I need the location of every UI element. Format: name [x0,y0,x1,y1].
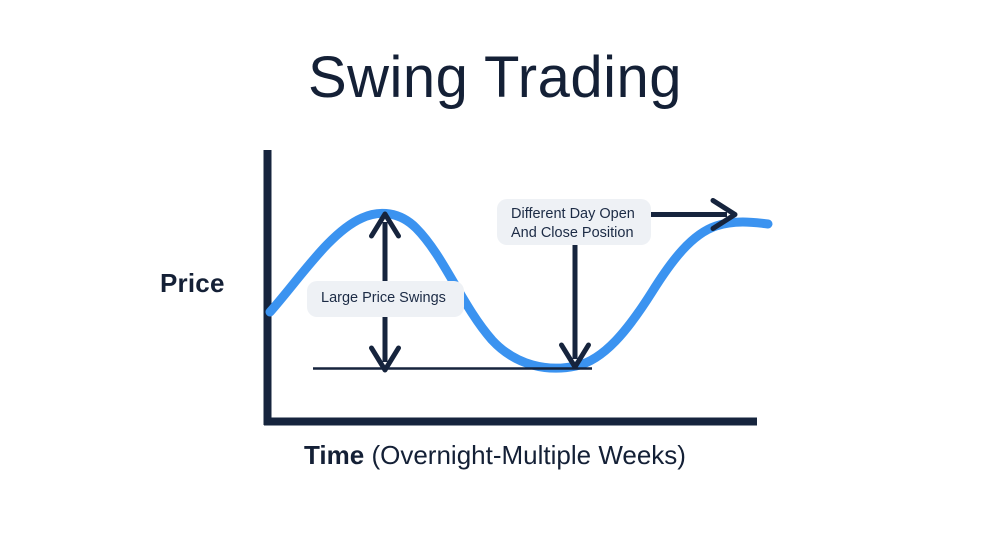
y-axis-label: Price [160,268,225,299]
callout-large-price-swings: Large Price Swings [307,281,464,317]
x-axis-label-detail: (Overnight-Multiple Weeks) [371,440,686,470]
different-day-down-arrow [562,243,589,367]
callout-different-day-line-1: Different Day Open [511,205,639,224]
different-day-right-arrow [651,201,735,229]
callout-large-price-swings-text: Large Price Swings [321,289,450,308]
x-axis-label-bold: Time [304,440,364,470]
callout-different-day-line-2: And Close Position [511,224,639,243]
diagram-canvas: Swing Trading Price Time (Overnight-Mult… [0,0,990,546]
x-axis-label: Time (Overnight-Multiple Weeks) [0,440,990,471]
callout-different-day-open-and-close-position: Different Day Open And Close Position [497,199,651,245]
